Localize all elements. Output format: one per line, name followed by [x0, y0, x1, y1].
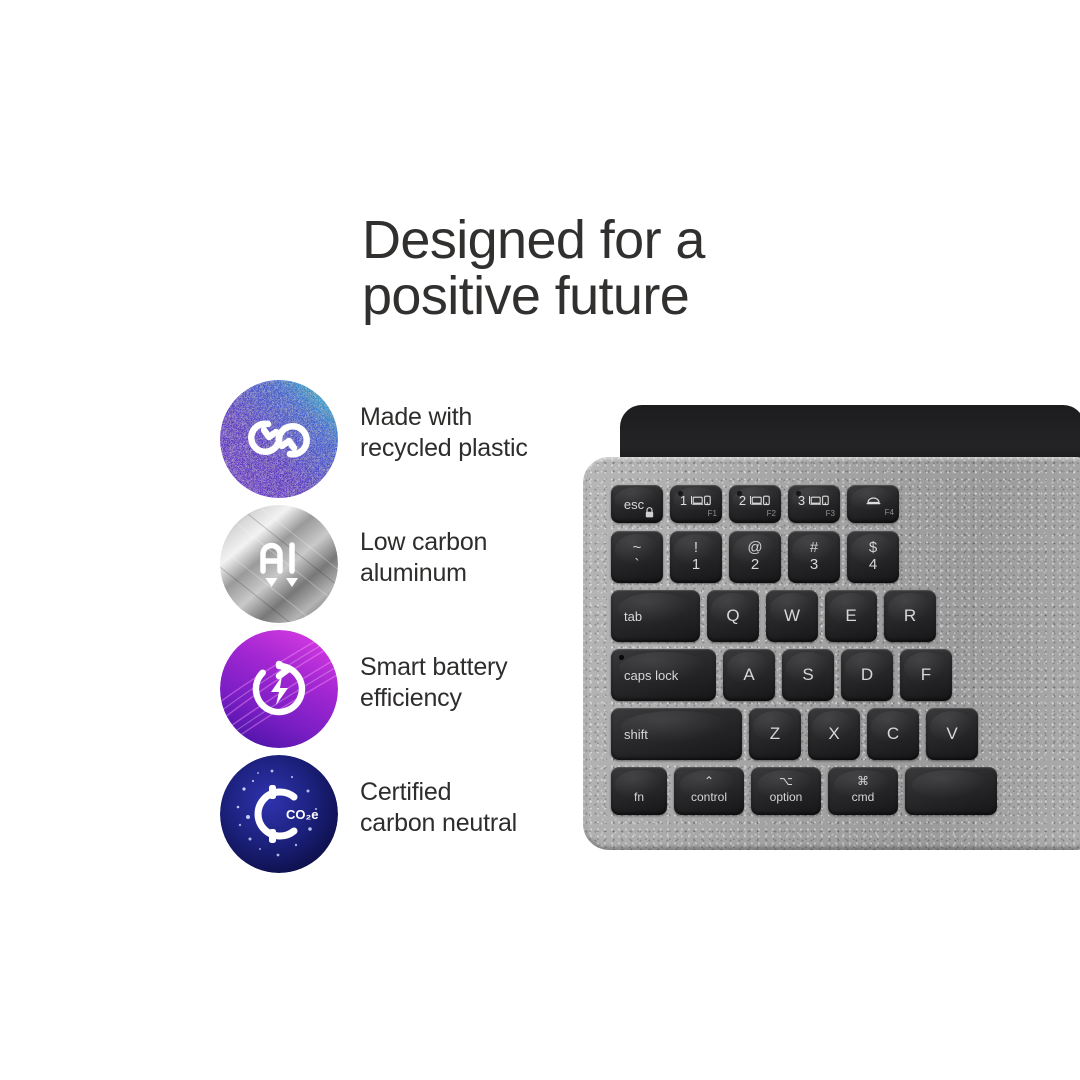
key-f1[interactable]: 1 F1 — [670, 485, 722, 523]
key-q-label: Q — [726, 606, 739, 626]
keyboard-shift-row: shift Z X C V — [611, 708, 978, 760]
key-tab[interactable]: tab — [611, 590, 700, 642]
key-backtick-shifted: ~ — [633, 540, 642, 557]
sustainability-feature-list: Made with recycled plastic — [220, 380, 580, 880]
feature-label-line-1: Low carbon — [360, 527, 580, 558]
feature-label-line-1: Made with — [360, 402, 580, 433]
feature-item-carbon-neutral: CO₂e Certified carbon neutral — [220, 755, 580, 880]
keyboard-tab-row: tab Q W E R — [611, 590, 936, 642]
recycled-plastic-icon — [220, 380, 338, 498]
carbon-neutral-icon-subtext: CO₂e — [286, 807, 319, 822]
key-z-label: Z — [770, 724, 780, 744]
key-w-label: W — [784, 606, 800, 626]
key-4-shifted: $ — [869, 540, 877, 557]
key-fn-label: fn — [634, 790, 644, 804]
key-fn[interactable]: fn — [611, 767, 667, 815]
key-z[interactable]: Z — [749, 708, 801, 760]
keyboard-bottom-row: fn ⌃ control ⌥ option ⌘ cmd — [611, 767, 997, 815]
low-carbon-aluminum-icon — [220, 505, 338, 623]
device-switch-icon — [690, 495, 712, 506]
key-a-label: A — [743, 665, 754, 685]
key-2-base: 2 — [751, 557, 759, 574]
feature-label-line-1: Certified — [360, 777, 580, 808]
key-d[interactable]: D — [841, 649, 893, 701]
key-control[interactable]: ⌃ control — [674, 767, 744, 815]
key-3-base: 3 — [810, 557, 818, 574]
device-switch-icon — [808, 495, 830, 506]
dictation-icon — [865, 495, 882, 506]
key-f1-sublabel: F1 — [708, 510, 717, 518]
command-glyph-icon: ⌘ — [857, 774, 869, 788]
page-title-line-1: Designed for a — [362, 213, 822, 269]
feature-label-line-2: efficiency — [360, 683, 580, 714]
feature-label-line-2: recycled plastic — [360, 433, 580, 464]
page-title-line-2: positive future — [362, 269, 822, 325]
lock-icon — [645, 507, 654, 518]
key-led-indicator — [796, 491, 801, 496]
key-led-indicator — [678, 491, 683, 496]
feature-label-battery-efficiency: Smart battery efficiency — [360, 652, 580, 713]
key-esc[interactable]: esc — [611, 485, 663, 523]
key-caps-lock-label: caps lock — [624, 668, 678, 683]
key-tab-label: tab — [624, 609, 642, 624]
key-f-label: F — [921, 665, 931, 685]
battery-efficiency-icon — [220, 630, 338, 748]
key-v[interactable]: V — [926, 708, 978, 760]
keyboard-product-image: esc 1 — [565, 405, 1080, 850]
key-3-shifted: # — [810, 540, 818, 557]
key-e-label: E — [845, 606, 856, 626]
device-switch-icon — [749, 495, 771, 506]
page-title: Designed for a positive future — [362, 213, 822, 324]
key-s[interactable]: S — [782, 649, 834, 701]
key-x[interactable]: X — [808, 708, 860, 760]
feature-label-line-2: carbon neutral — [360, 808, 580, 839]
key-a[interactable]: A — [723, 649, 775, 701]
key-backtick-base: ` — [634, 557, 639, 574]
key-cmd[interactable]: ⌘ cmd — [828, 767, 898, 815]
key-option-label: option — [770, 790, 803, 804]
key-control-label: control — [691, 790, 727, 804]
key-shift-label: shift — [624, 727, 648, 742]
feature-label-recycled-plastic: Made with recycled plastic — [360, 402, 580, 463]
feature-label-line-2: aluminum — [360, 558, 580, 589]
key-4[interactable]: $ 4 — [847, 531, 899, 583]
key-w[interactable]: W — [766, 590, 818, 642]
keyboard-function-row: esc 1 — [611, 485, 899, 523]
key-r[interactable]: R — [884, 590, 936, 642]
key-f3-sublabel: F3 — [826, 510, 835, 518]
key-d-label: D — [861, 665, 873, 685]
key-4-base: 4 — [869, 557, 877, 574]
key-s-label: S — [802, 665, 813, 685]
key-c[interactable]: C — [867, 708, 919, 760]
feature-label-carbon-neutral: Certified carbon neutral — [360, 777, 580, 838]
key-f2[interactable]: 2 F2 — [729, 485, 781, 523]
key-caps-lock[interactable]: caps lock — [611, 649, 716, 701]
feature-item-battery-efficiency: Smart battery efficiency — [220, 630, 580, 755]
key-1-shifted: ! — [694, 540, 698, 557]
key-esc-label: esc — [624, 498, 644, 511]
key-1[interactable]: ! 1 — [670, 531, 722, 583]
key-f[interactable]: F — [900, 649, 952, 701]
key-led-indicator — [737, 491, 742, 496]
option-glyph-icon: ⌥ — [779, 774, 793, 788]
key-f4-sublabel: F4 — [885, 509, 894, 517]
key-f2-sublabel: F2 — [767, 510, 776, 518]
key-q[interactable]: Q — [707, 590, 759, 642]
key-r-label: R — [904, 606, 916, 626]
key-2-shifted: @ — [747, 540, 762, 557]
keyboard-deck: esc 1 — [583, 457, 1080, 850]
feature-label-line-1: Smart battery — [360, 652, 580, 683]
key-3[interactable]: # 3 — [788, 531, 840, 583]
key-backtick[interactable]: ~ ` — [611, 531, 663, 583]
key-f3[interactable]: 3 F3 — [788, 485, 840, 523]
control-glyph-icon: ⌃ — [704, 774, 714, 788]
feature-item-low-carbon-aluminum: Low carbon aluminum — [220, 505, 580, 630]
keyboard-number-row: ~ ` ! 1 @ 2 # 3 — [611, 531, 899, 583]
feature-item-recycled-plastic: Made with recycled plastic — [220, 380, 580, 505]
key-spacebar[interactable] — [905, 767, 997, 815]
key-1-base: 1 — [692, 557, 700, 574]
feature-label-low-carbon-aluminum: Low carbon aluminum — [360, 527, 580, 588]
key-option[interactable]: ⌥ option — [751, 767, 821, 815]
key-v-label: V — [946, 724, 957, 744]
key-cmd-label: cmd — [852, 790, 875, 804]
carbon-neutral-icon: CO₂e — [220, 755, 338, 873]
caps-lock-led — [619, 655, 624, 660]
keyboard-caps-row: caps lock A S D F — [611, 649, 952, 701]
key-e[interactable]: E — [825, 590, 877, 642]
key-2[interactable]: @ 2 — [729, 531, 781, 583]
key-f4[interactable]: F4 — [847, 485, 899, 523]
key-c-label: C — [887, 724, 899, 744]
key-x-label: X — [828, 724, 839, 744]
key-shift[interactable]: shift — [611, 708, 742, 760]
